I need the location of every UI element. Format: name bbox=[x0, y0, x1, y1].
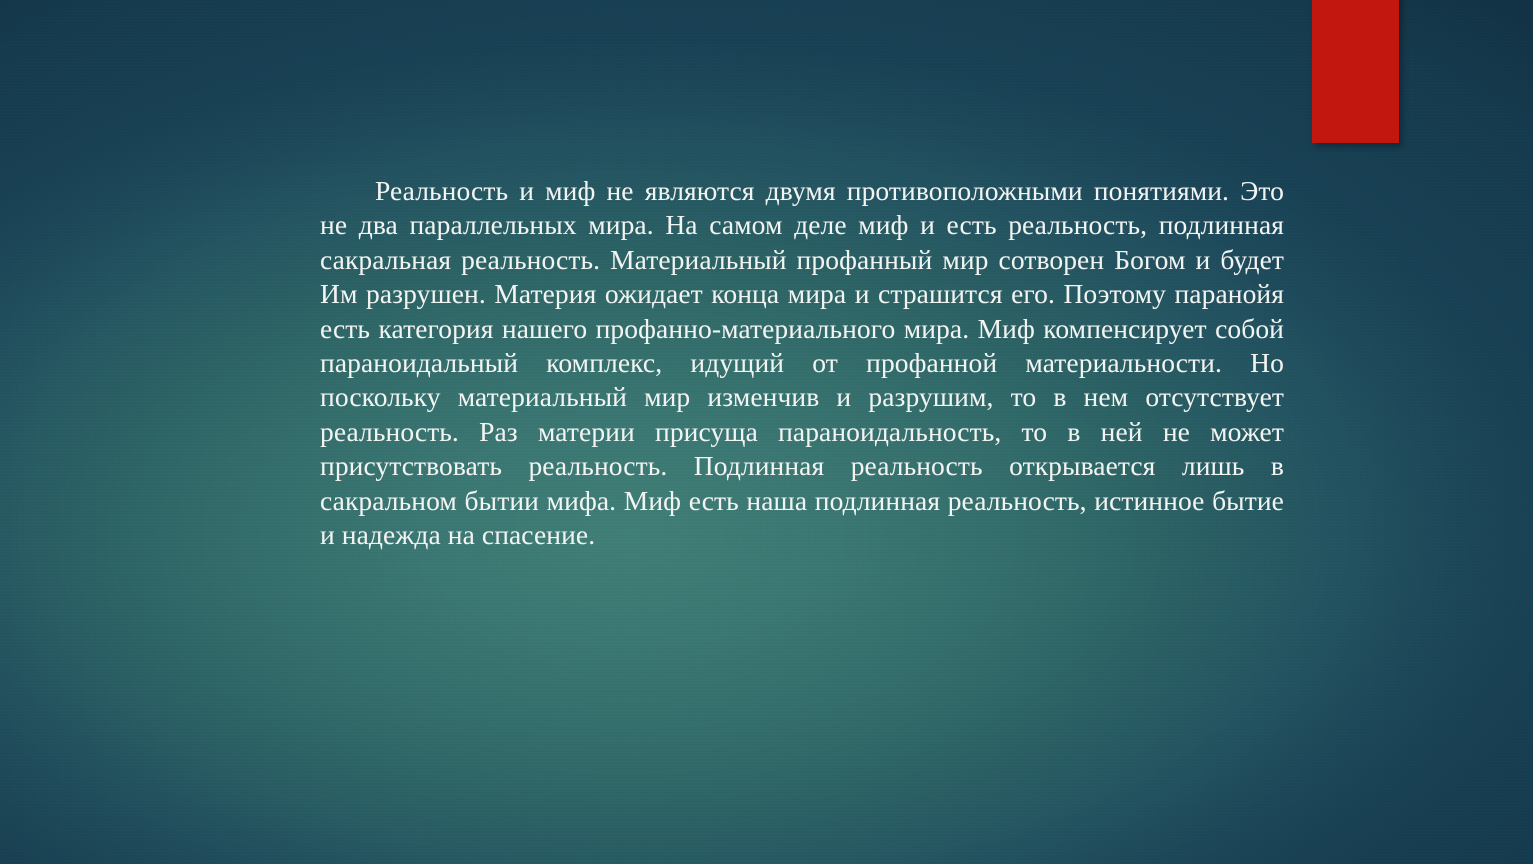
presentation-slide: Реальность и миф не являются двумя проти… bbox=[0, 0, 1533, 864]
slide-body-paragraph: Реальность и миф не являются двумя проти… bbox=[320, 174, 1284, 552]
red-accent-rectangle bbox=[1312, 0, 1399, 143]
